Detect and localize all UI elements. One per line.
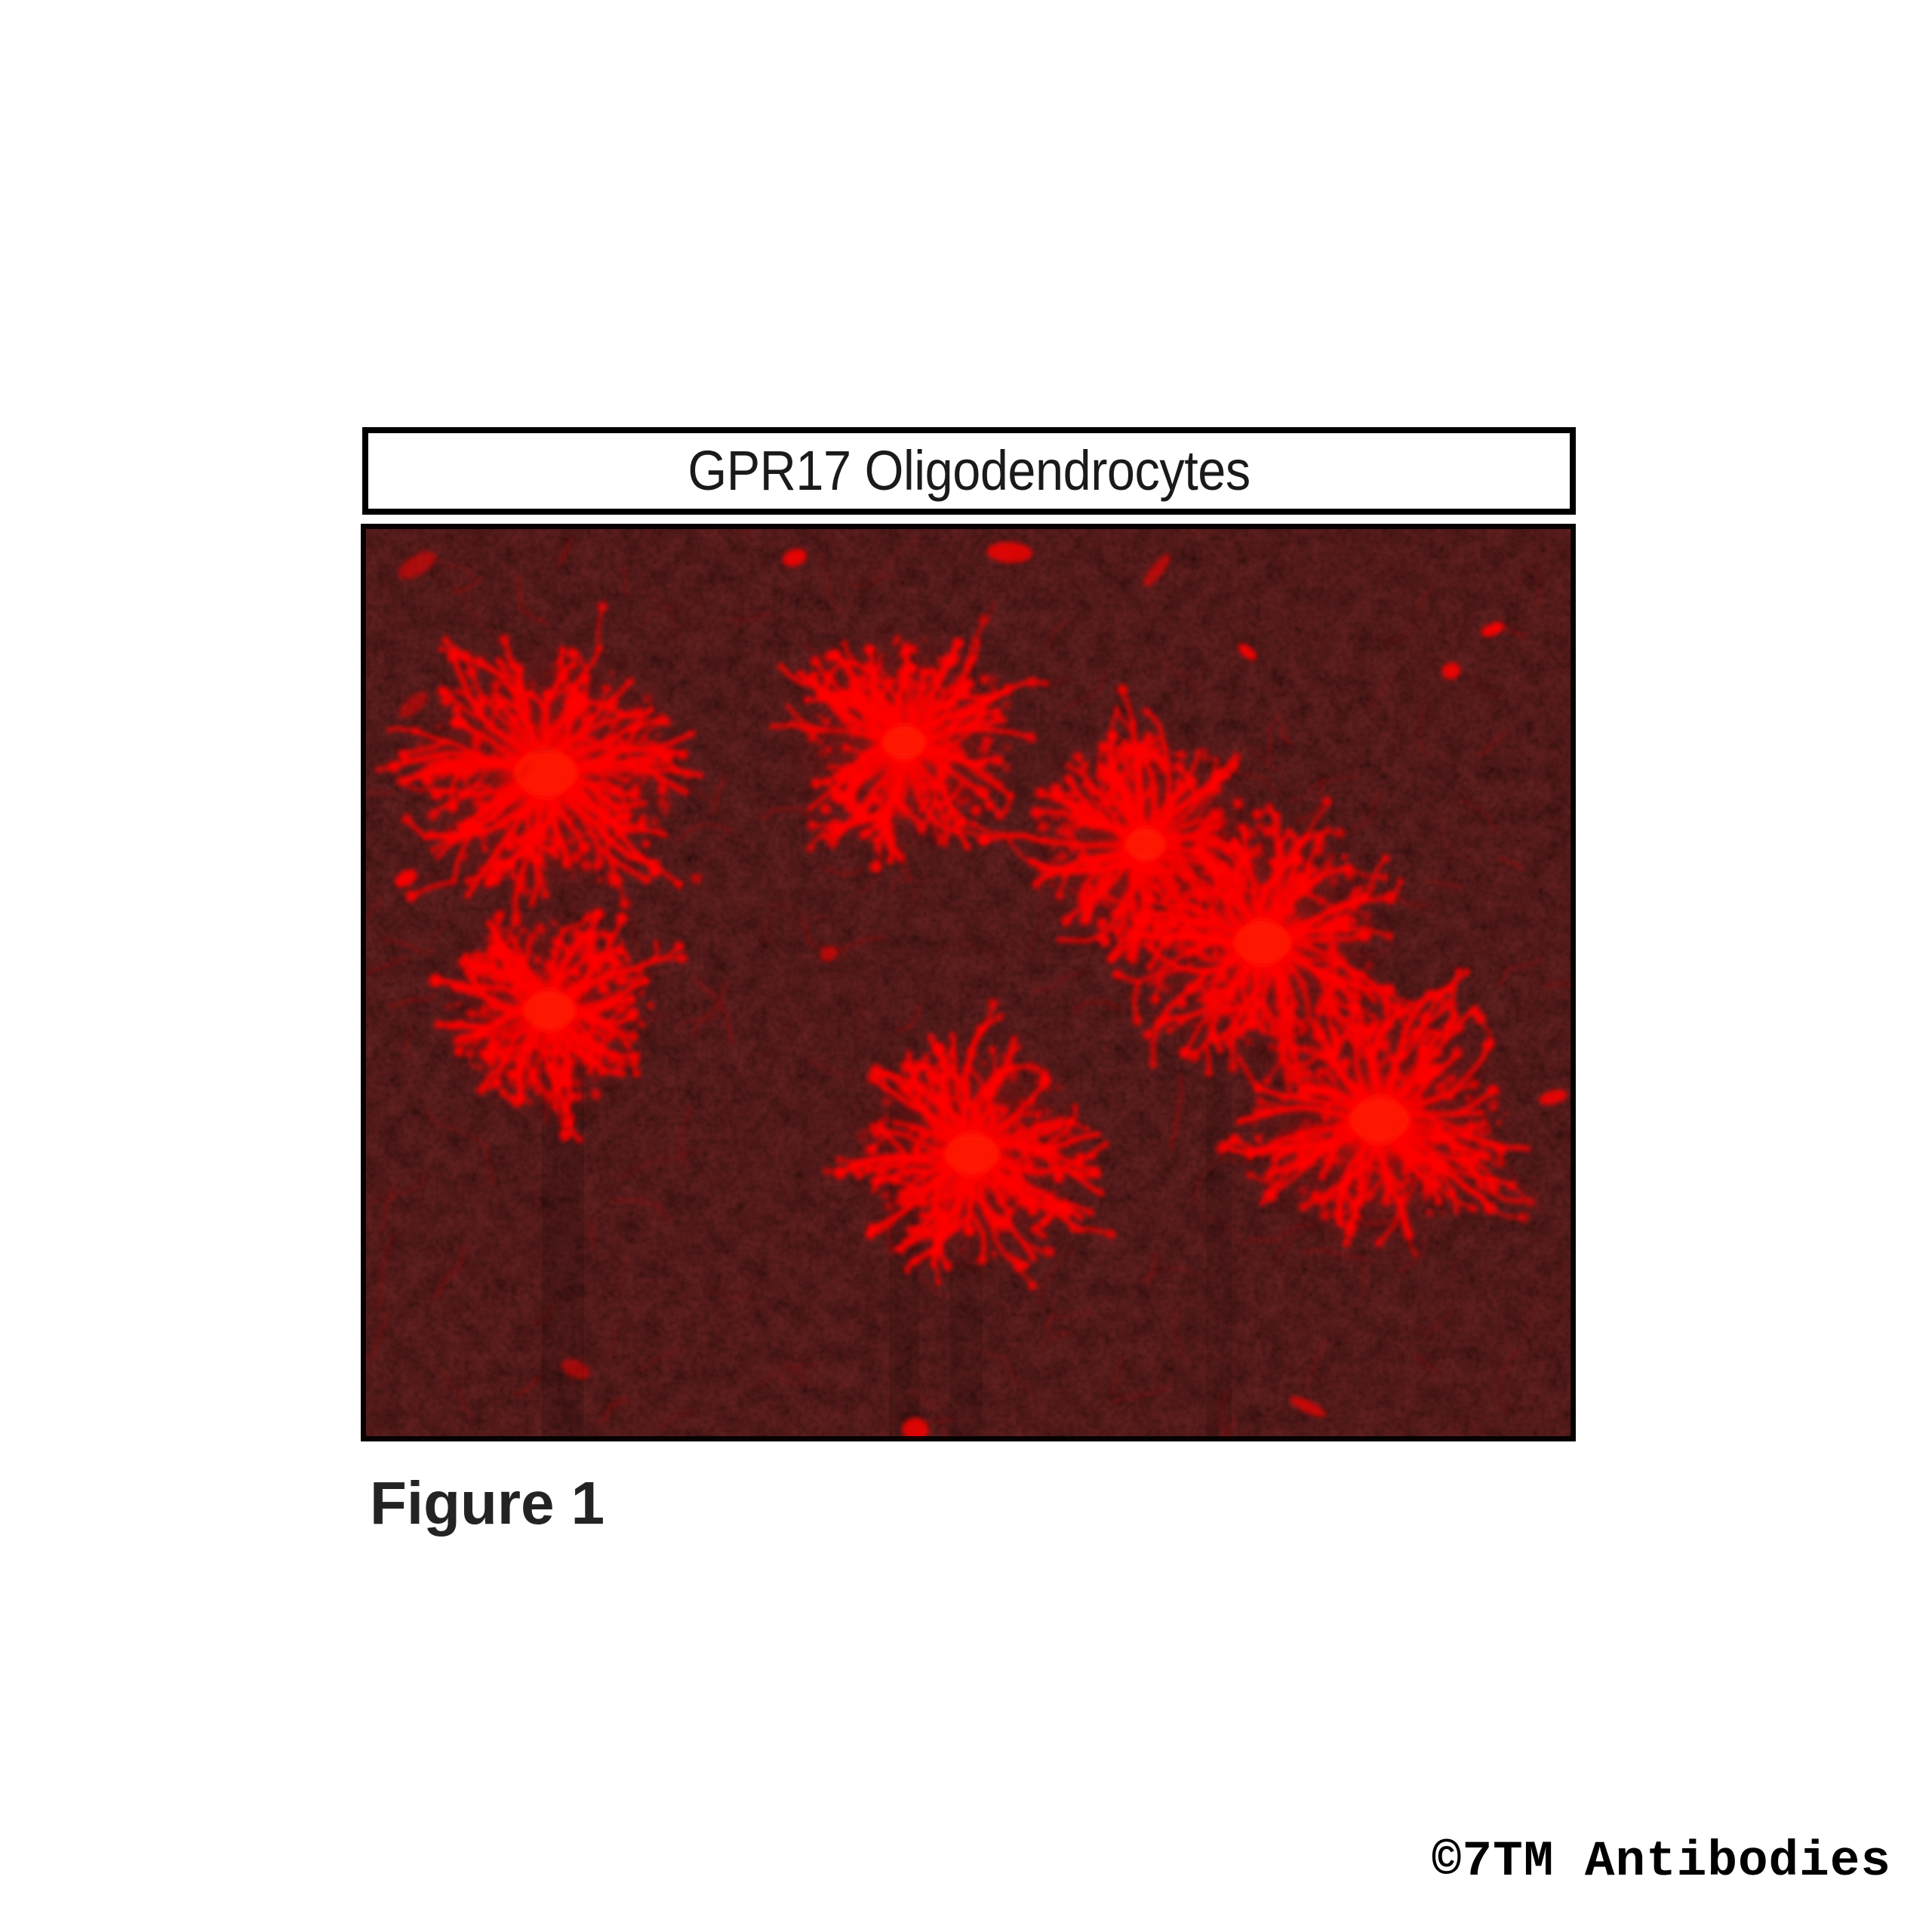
micrograph-panel — [361, 524, 1576, 1441]
copyright-notice: ©7TM Antibodies — [1432, 1837, 1891, 1887]
figure-root: GPR17 Oligodendrocytes — [0, 0, 1932, 1932]
micrograph-image — [361, 524, 1576, 1441]
panel-title-box: GPR17 Oligodendrocytes — [362, 427, 1576, 515]
figure-caption: Figure 1 — [370, 1473, 605, 1534]
panel-title-text: GPR17 Oligodendrocytes — [688, 443, 1250, 499]
